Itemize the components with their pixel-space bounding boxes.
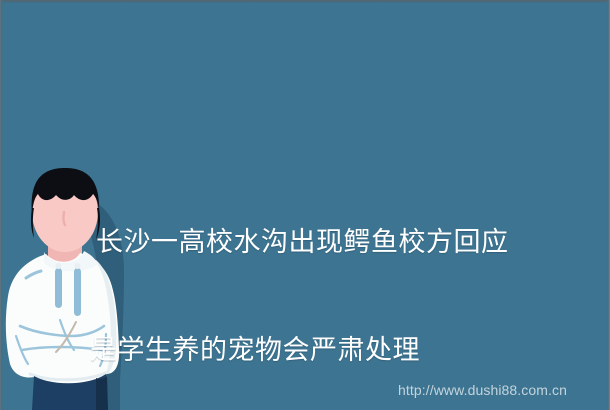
drawstring-right xyxy=(74,268,81,316)
watermark-url: http://www.dushi88.com.cn xyxy=(398,381,567,399)
headline-line-2: 是学生养的宠物会严肃处理 xyxy=(90,332,566,368)
drawstring-left xyxy=(55,268,62,308)
news-cover-image: 长沙一高校水沟出现鳄鱼校方回应 是学生养的宠物会严肃处理 http://www.… xyxy=(0,0,610,410)
top-edge-border xyxy=(0,0,610,3)
headline-text: 长沙一高校水沟出现鳄鱼校方回应 是学生养的宠物会严肃处理 xyxy=(96,152,566,410)
drawstring-eyelet-left xyxy=(56,263,62,269)
drawstring-eyelet-right xyxy=(75,263,81,269)
headline-line-1: 长沙一高校水沟出现鳄鱼校方回应 xyxy=(96,224,566,260)
